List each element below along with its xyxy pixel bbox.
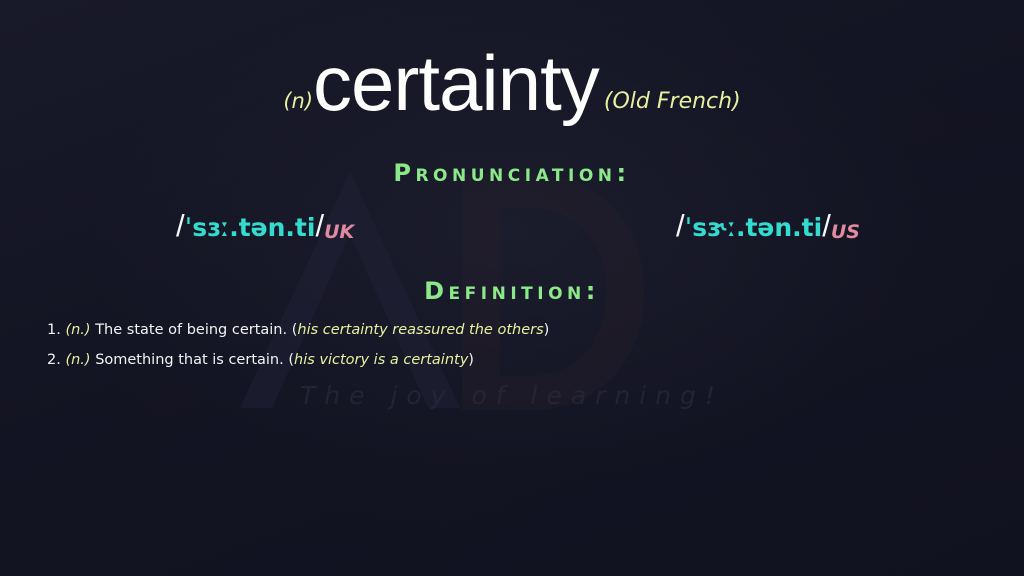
ipa-close-slash: / [822,208,831,243]
locale-label-us: US [831,221,860,243]
headword-word: certainty [313,39,599,127]
ipa-close-slash: / [315,208,324,243]
definition-number: 1. [47,322,61,338]
headword-origin: (Old French) [604,89,741,114]
definition-text: The state of being certain. [95,322,287,338]
definition-heading: Definition: [0,277,1024,305]
example-close-paren: ) [468,352,474,368]
watermark-tagline: The joy of learning! [0,381,1024,410]
ipa-open-slash: / [176,208,185,243]
ipa-transcription-uk: ˈsɜː.tən.ti [185,213,316,242]
pronunciation-uk: /ˈsɜː.tən.ti/UK [176,210,354,241]
definition-example: his victory is a certainty [294,352,468,368]
pronunciation-row: /ˈsɜː.tən.ti/UK /ˈsɝː.tən.ti/US [0,206,1024,250]
definition-part-of-speech: (n.) [65,322,90,338]
headword-part-of-speech: (n) [283,89,313,113]
definition-item: 2. (n.) Something that is certain. (his … [47,352,947,369]
definition-number: 2. [47,352,61,368]
definition-example: his certainty reassured the others [297,322,543,338]
definition-list: 1. (n.) The state of being certain. (his… [47,322,947,383]
dictionary-slide: The joy of learning! (n)certainty (Old F… [0,0,1024,576]
ipa-transcription-us: ˈsɝː.tən.ti [685,213,823,242]
ipa-open-slash: / [676,208,685,243]
example-close-paren: ) [544,322,550,338]
definition-part-of-speech: (n.) [65,352,90,368]
definition-text: Something that is certain. [95,352,284,368]
pronunciation-us: /ˈsɝː.tən.ti/US [676,210,860,241]
headword-row: (n)certainty (Old French) [0,44,1024,122]
pronunciation-heading: Pronunciation: [0,159,1024,187]
definition-item: 1. (n.) The state of being certain. (his… [47,322,947,339]
locale-label-uk: UK [324,221,354,243]
